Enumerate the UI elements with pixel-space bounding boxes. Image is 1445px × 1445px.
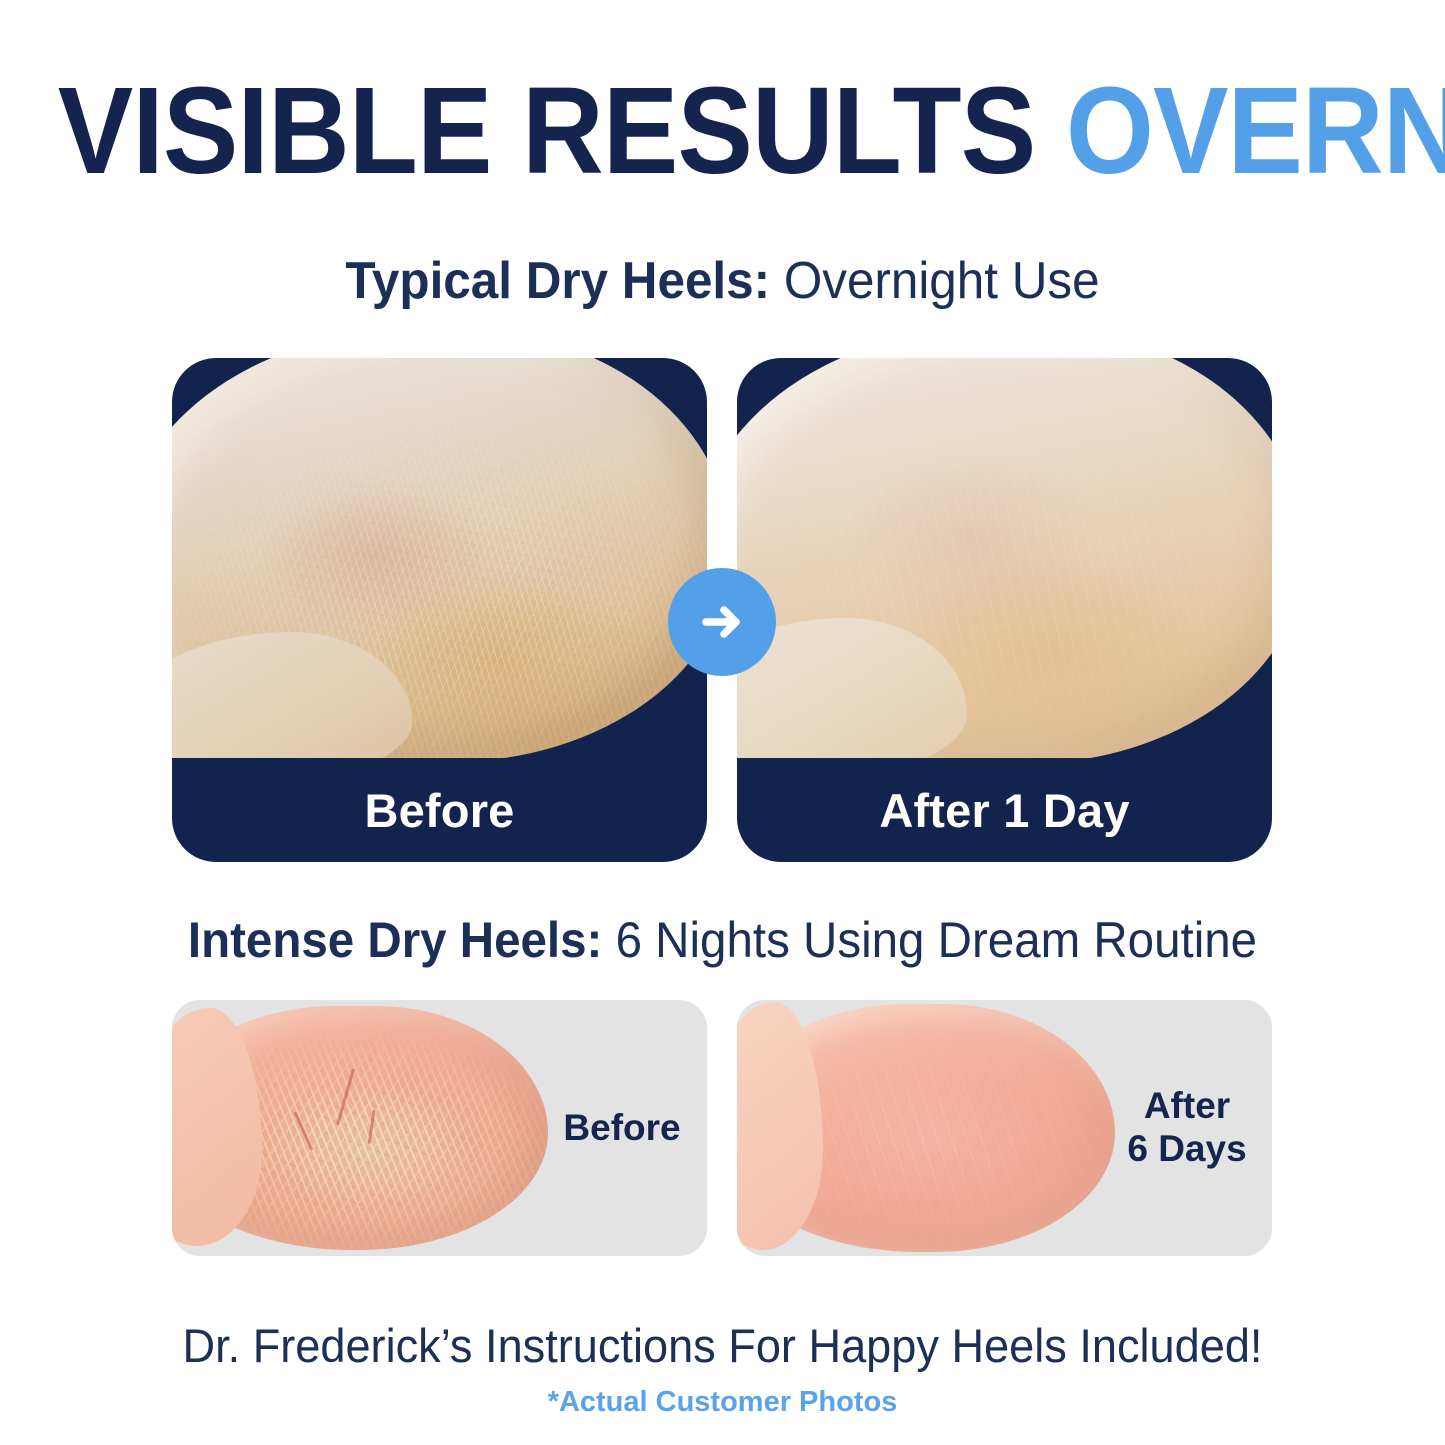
headline-primary: VISIBLE RESULTS [58, 63, 1036, 200]
section-title-intense: Intense Dry Heels: 6 Nights Using Dream … [36, 915, 1409, 965]
comparison-row-intense: Before After 6 Days [172, 1000, 1272, 1256]
panel-after-intense: After 6 Days [737, 1000, 1272, 1256]
caption-before-intense: Before [537, 1000, 707, 1256]
section-title-intense-bold: Intense Dry Heels: [188, 912, 602, 968]
footer-disclaimer: *Actual Customer Photos [0, 1386, 1445, 1419]
panel-before-typical: Before [172, 358, 707, 862]
panel-after-typical: After 1 Day [737, 358, 1272, 862]
section-title-typical-regular: Overnight Use [770, 252, 1099, 310]
headline-accent: OVERNIGHT [1066, 63, 1445, 200]
photo-after-typical [737, 358, 1272, 758]
caption-before-typical: Before [172, 758, 707, 862]
promo-graphic-root: VISIBLE RESULTS OVERNIGHT Typical Dry He… [0, 0, 1445, 1445]
page-title: VISIBLE RESULTS OVERNIGHT [58, 70, 1387, 193]
section-title-typical-bold: Typical Dry Heels: [345, 252, 770, 310]
caption-after-intense: After 6 Days [1102, 1000, 1272, 1256]
panel-before-intense: Before [172, 1000, 707, 1256]
section-title-typical: Typical Dry Heels: Overnight Use [36, 255, 1409, 307]
section-title-intense-regular: 6 Nights Using Dream Routine [602, 912, 1257, 968]
caption-after-typical: After 1 Day [737, 758, 1272, 862]
photo-before-typical [172, 358, 707, 758]
footer-headline: Dr. Frederick’s Instructions For Happy H… [29, 1318, 1416, 1373]
arrow-right-icon [668, 568, 776, 676]
